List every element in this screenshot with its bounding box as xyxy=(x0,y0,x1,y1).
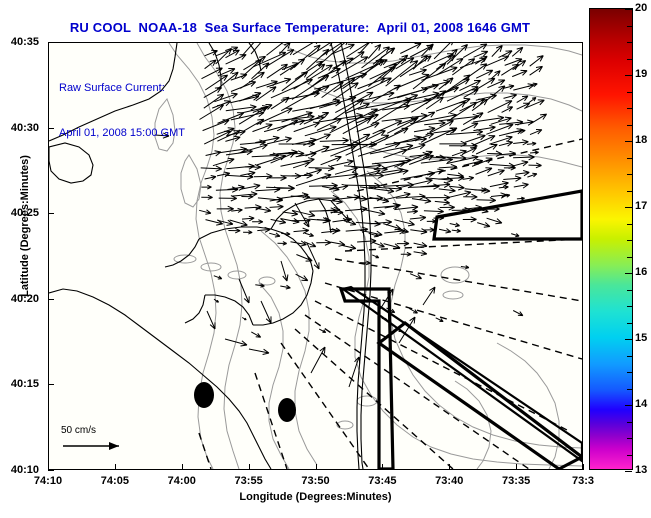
colorbar-tick-label: 13 xyxy=(635,464,647,476)
current-vector xyxy=(397,241,409,246)
current-vector xyxy=(449,185,464,190)
colorbar-tick xyxy=(625,339,632,340)
current-vector xyxy=(319,329,326,332)
current-vector xyxy=(243,119,264,131)
current-vector xyxy=(226,105,257,111)
station-marker xyxy=(194,382,214,408)
current-vector xyxy=(267,78,291,87)
raw-current-annotation: Raw Surface Current: April 01, 2008 15:0… xyxy=(59,51,185,171)
colorbar-tick xyxy=(627,455,632,456)
colorbar-gradient xyxy=(590,9,632,469)
y-tick xyxy=(48,384,54,385)
current-vector xyxy=(452,229,461,232)
y-tick-label: 40:30 xyxy=(0,122,39,134)
y-tick xyxy=(48,299,54,300)
current-vector xyxy=(447,45,468,65)
current-vector xyxy=(311,347,325,373)
x-tick-label: 73:55 xyxy=(235,475,263,487)
current-vector xyxy=(206,220,223,226)
current-vector xyxy=(216,187,238,192)
current-vector xyxy=(201,195,212,199)
current-vector xyxy=(309,43,334,57)
current-vector xyxy=(491,193,507,198)
current-vector xyxy=(373,242,385,247)
current-vector xyxy=(238,144,267,153)
current-vector xyxy=(517,96,528,102)
current-vector xyxy=(331,160,353,166)
current-vector xyxy=(201,185,211,189)
colorbar-tick xyxy=(627,323,632,324)
current-vector xyxy=(530,151,539,154)
current-vector xyxy=(401,252,411,256)
current-vector xyxy=(527,173,537,177)
station-marker xyxy=(278,398,296,422)
y-axis-title: Latitude (Degrees:Minutes) xyxy=(19,136,31,316)
colorbar-tick-label: 16 xyxy=(635,266,647,278)
x-tick xyxy=(449,464,450,470)
y-tick xyxy=(48,470,54,471)
colorbar[interactable] xyxy=(589,8,633,470)
colorbar-tick xyxy=(625,207,632,208)
current-vector xyxy=(447,173,463,178)
current-vector xyxy=(261,301,271,323)
current-vector xyxy=(267,64,288,78)
current-vector xyxy=(242,216,254,221)
x-axis-title: Longitude (Degrees:Minutes) xyxy=(48,491,583,503)
current-vector xyxy=(293,162,310,168)
current-vector xyxy=(473,125,495,130)
current-vector xyxy=(277,120,298,131)
current-vector xyxy=(305,126,337,136)
colorbar-tick xyxy=(627,290,632,291)
current-vector xyxy=(217,206,234,211)
figure-root: RU COOL NOAA-18 Sea Surface Temperature:… xyxy=(0,0,651,518)
current-vector xyxy=(249,349,269,355)
colorbar-tick xyxy=(627,92,632,93)
x-tick-label: 74:00 xyxy=(168,475,196,487)
colorbar-tick xyxy=(627,438,632,439)
current-vector xyxy=(476,168,493,175)
current-vector xyxy=(239,279,249,303)
current-vector xyxy=(321,43,350,56)
y-tick-label: 40:15 xyxy=(0,378,39,390)
current-vector xyxy=(280,285,290,289)
current-vector xyxy=(343,245,356,250)
current-vector xyxy=(242,318,246,320)
x-tick-label: 74:05 xyxy=(101,475,129,487)
current-vector xyxy=(499,129,523,136)
colorbar-tick-label: 20 xyxy=(635,2,647,14)
colorbar-tick xyxy=(627,257,632,258)
colorbar-tick xyxy=(627,422,632,423)
x-tick xyxy=(249,464,250,470)
current-vector xyxy=(463,176,474,180)
current-vector xyxy=(320,138,349,143)
colorbar-tick-label: 14 xyxy=(635,398,647,410)
current-vector xyxy=(203,120,230,131)
current-vector xyxy=(409,309,417,314)
colorbar-tick xyxy=(627,356,632,357)
colorbar-tick xyxy=(627,224,632,225)
y-tick xyxy=(48,128,54,129)
current-vector xyxy=(512,161,528,167)
current-vector xyxy=(279,186,294,191)
current-vector xyxy=(321,156,342,165)
current-vector xyxy=(225,174,253,179)
current-vector xyxy=(294,122,320,132)
current-vector xyxy=(424,121,445,126)
current-vector xyxy=(296,255,312,262)
current-vector xyxy=(245,205,262,210)
current-vector xyxy=(512,70,527,76)
current-vector xyxy=(252,220,263,224)
current-vector xyxy=(487,218,502,224)
current-vector xyxy=(369,220,391,225)
survey-boxes xyxy=(341,191,582,469)
current-vector xyxy=(527,142,536,145)
current-vector xyxy=(477,198,496,203)
current-vector xyxy=(251,332,260,337)
colorbar-tick xyxy=(625,9,632,10)
current-vector xyxy=(316,240,331,245)
current-vector xyxy=(281,261,288,281)
current-vector xyxy=(410,274,422,279)
x-tick-label: 74:10 xyxy=(34,475,62,487)
current-vector xyxy=(214,299,219,302)
current-vector xyxy=(502,107,513,113)
y-tick-label: 40:35 xyxy=(0,36,39,48)
current-vector xyxy=(356,131,386,145)
current-vector xyxy=(309,183,338,188)
colorbar-tick-label: 19 xyxy=(635,68,647,80)
colorbar-tick xyxy=(627,26,632,27)
x-tick-label: 73:35 xyxy=(502,475,530,487)
current-vector xyxy=(360,209,385,216)
annotation-line-1: Raw Surface Current: xyxy=(59,81,185,96)
right-arrow-icon xyxy=(61,439,131,453)
page-title: RU COOL NOAA-18 Sea Surface Temperature:… xyxy=(0,20,600,35)
current-vector xyxy=(414,127,435,132)
y-tick-label: 40:10 xyxy=(0,464,39,476)
current-vector xyxy=(503,176,521,181)
colorbar-tick xyxy=(625,405,632,406)
current-vector xyxy=(269,233,280,237)
current-vector xyxy=(529,98,536,103)
current-vector xyxy=(386,61,418,87)
current-vector xyxy=(435,200,450,205)
current-vector xyxy=(486,56,509,66)
x-tick xyxy=(583,464,584,470)
current-vector xyxy=(414,251,427,256)
x-tick xyxy=(182,464,183,470)
current-vector xyxy=(514,183,529,188)
colorbar-tick xyxy=(627,108,632,109)
current-vector xyxy=(278,242,287,246)
current-vector xyxy=(294,228,309,233)
current-vector xyxy=(513,140,528,145)
current-vector xyxy=(205,176,216,180)
current-vector xyxy=(499,141,513,146)
current-vector xyxy=(423,287,435,305)
colorbar-tick xyxy=(627,42,632,43)
map-plot-area[interactable]: Raw Surface Current: April 01, 2008 15:0… xyxy=(48,42,583,470)
current-vector xyxy=(371,100,410,125)
current-vector xyxy=(517,197,525,200)
colorbar-tick xyxy=(627,240,632,241)
current-vector xyxy=(230,220,248,226)
x-tick xyxy=(516,464,517,470)
current-vector xyxy=(440,205,455,210)
colorbar-tick xyxy=(627,191,632,192)
current-vector xyxy=(424,209,444,214)
current-vector xyxy=(463,217,477,222)
current-vector xyxy=(213,158,234,166)
y-tick xyxy=(48,42,54,43)
current-vector xyxy=(530,56,544,67)
current-vector xyxy=(504,94,517,99)
current-vector xyxy=(491,71,501,80)
current-vector xyxy=(228,228,240,233)
station-markers xyxy=(194,382,296,422)
colorbar-tick xyxy=(627,174,632,175)
current-vector xyxy=(372,85,400,102)
current-vector xyxy=(531,114,547,124)
colorbar-tick xyxy=(627,306,632,307)
current-vector xyxy=(207,311,215,329)
x-tick-label: 73:3 xyxy=(572,475,594,487)
current-vector xyxy=(410,229,427,234)
current-vector xyxy=(517,103,530,109)
colorbar-tick-label: 15 xyxy=(635,332,647,344)
current-vector xyxy=(241,59,261,77)
x-tick xyxy=(316,464,317,470)
x-tick-label: 73:40 xyxy=(435,475,463,487)
colorbar-tick-label: 17 xyxy=(635,200,647,212)
current-vector xyxy=(513,84,534,90)
current-vector xyxy=(368,44,380,58)
x-tick-label: 73:45 xyxy=(368,475,396,487)
current-vector xyxy=(476,144,497,154)
current-vector xyxy=(513,311,523,316)
current-vector xyxy=(436,318,444,322)
current-vector xyxy=(477,223,490,228)
current-vector xyxy=(296,274,308,280)
current-vector xyxy=(304,169,322,175)
current-vector xyxy=(529,163,542,168)
current-vector xyxy=(464,64,487,80)
current-vector xyxy=(256,207,271,212)
current-vector xyxy=(530,66,543,75)
current-vector xyxy=(372,255,379,258)
current-vector xyxy=(463,194,477,199)
current-vector xyxy=(240,171,255,176)
current-vector xyxy=(216,47,238,56)
colorbar-tick xyxy=(625,75,632,76)
current-vector xyxy=(501,64,518,75)
current-vector xyxy=(439,188,456,193)
current-vector xyxy=(488,170,505,176)
current-vector xyxy=(270,204,284,209)
colorbar-tick xyxy=(625,141,632,142)
y-tick xyxy=(48,213,54,214)
current-vector xyxy=(344,221,356,226)
current-vector xyxy=(410,215,426,220)
current-vector xyxy=(199,210,211,215)
colorbar-tick-label: 18 xyxy=(635,134,647,146)
velocity-scale-legend: 50 cm/s xyxy=(61,425,171,458)
colorbar-tick xyxy=(627,125,632,126)
x-tick-label: 73:50 xyxy=(301,475,329,487)
current-vector xyxy=(394,220,414,226)
x-tick xyxy=(115,464,116,470)
current-vector xyxy=(476,70,493,78)
current-vector xyxy=(214,276,222,279)
current-vector xyxy=(204,131,230,144)
colorbar-tick xyxy=(625,273,632,274)
current-vector xyxy=(243,231,252,235)
current-vector xyxy=(383,224,401,230)
colorbar-tick xyxy=(627,372,632,373)
current-vector xyxy=(205,60,217,69)
colorbar-tick xyxy=(627,389,632,390)
current-vector xyxy=(450,223,460,227)
current-vector xyxy=(305,233,314,236)
colorbar-tick xyxy=(625,471,632,472)
velocity-scale-label: 50 cm/s xyxy=(61,425,171,436)
current-vector xyxy=(383,193,411,201)
current-vector xyxy=(413,63,446,89)
colorbar-tick xyxy=(627,59,632,60)
current-vector xyxy=(201,166,222,171)
current-vector xyxy=(396,194,426,199)
current-vector xyxy=(492,46,503,57)
current-vector xyxy=(303,134,330,145)
current-vector xyxy=(512,47,523,56)
current-vector xyxy=(530,130,542,135)
colorbar-tick xyxy=(627,158,632,159)
current-vector xyxy=(400,43,421,53)
current-vector xyxy=(516,171,530,176)
current-vector xyxy=(439,229,451,234)
annotation-line-2: April 01, 2008 15:00 GMT xyxy=(59,126,185,141)
current-vector xyxy=(511,234,519,237)
x-tick xyxy=(382,464,383,470)
